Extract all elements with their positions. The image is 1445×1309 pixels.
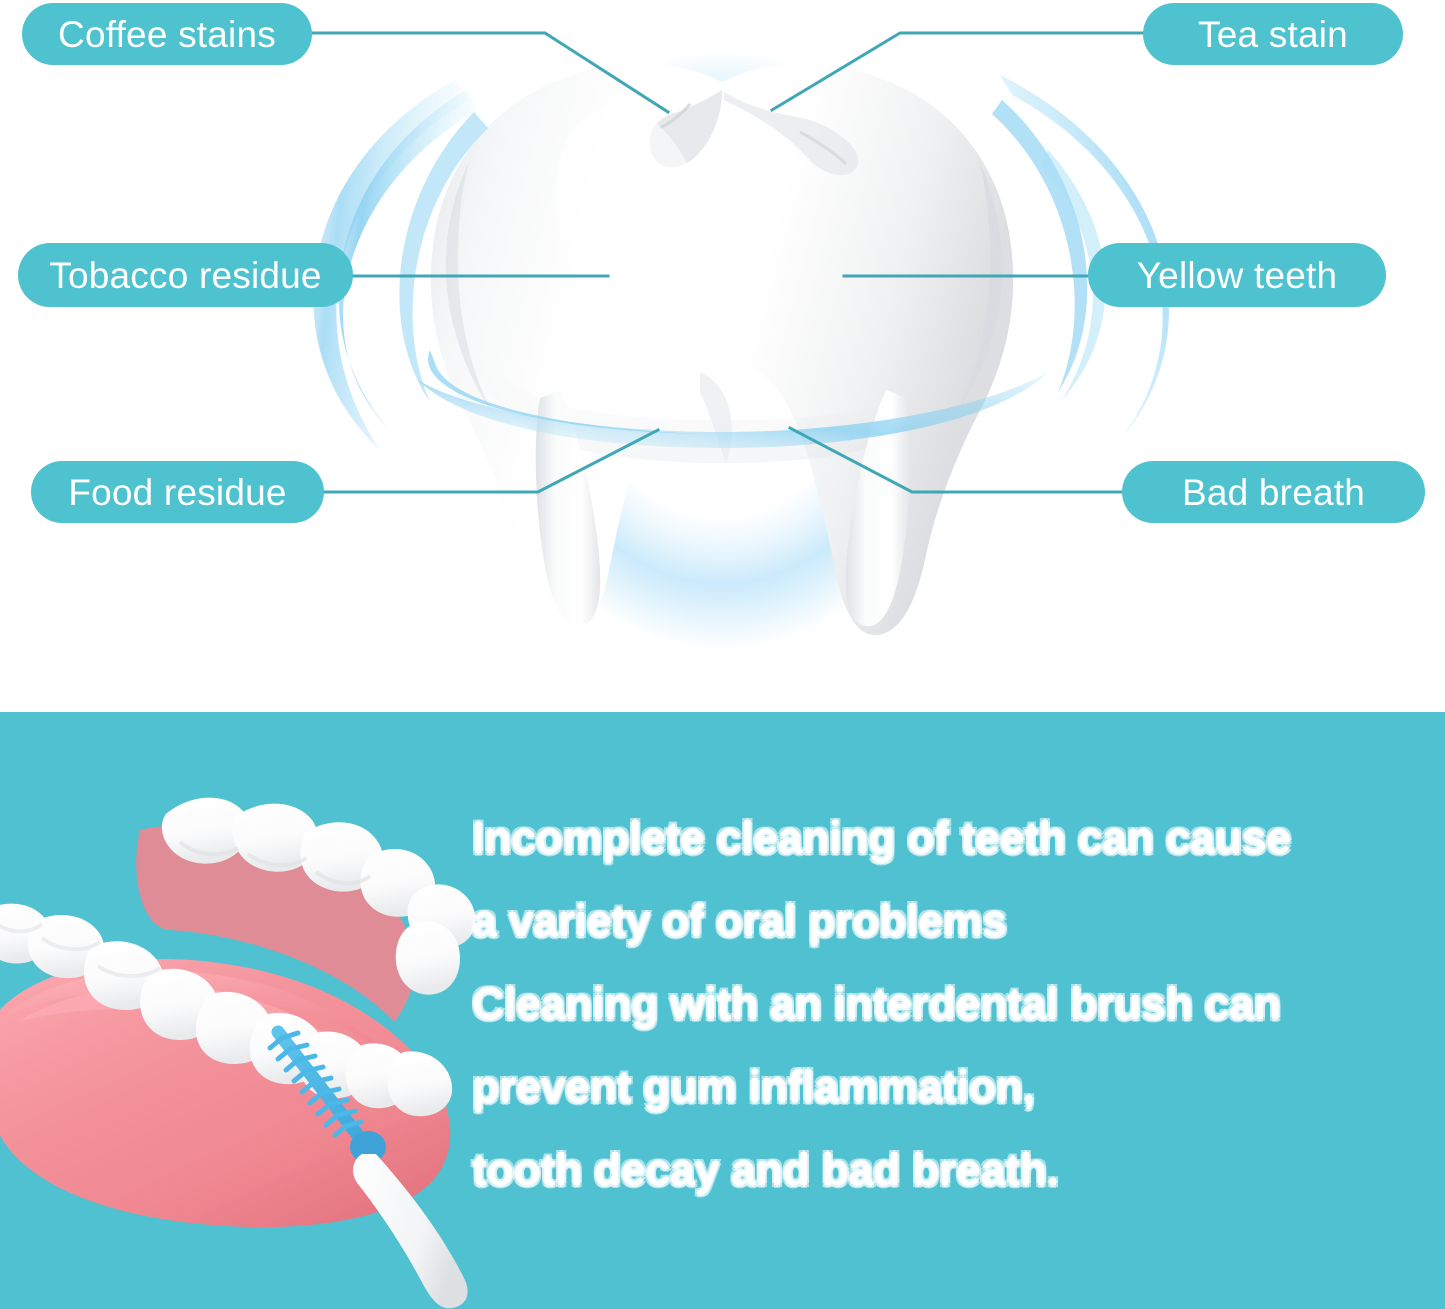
label-tobacco-residue[interactable]: Tobacco residue [18,243,353,307]
infographic-page: Coffee stains Tea stain Tobacco residue … [0,0,1445,1309]
label-bad-breath[interactable]: Bad breath [1122,461,1425,523]
message-line-5: tooth decay and bad breath. [472,1147,1432,1192]
label-coffee-stains[interactable]: Coffee stains [22,3,312,65]
dentures-illustration [0,722,490,1309]
tooth-illustration [0,0,1445,712]
banner-message: Incomplete cleaning of teeth can cause a… [472,815,1432,1230]
label-yellow-teeth[interactable]: Yellow teeth [1088,243,1386,307]
tooth-diagram-panel: Coffee stains Tea stain Tobacco residue … [0,0,1445,712]
message-line-1: Incomplete cleaning of teeth can cause [472,815,1432,860]
label-tea-stain[interactable]: Tea stain [1143,3,1403,65]
message-line-4: prevent gum inflammation, [472,1064,1432,1109]
message-line-2: a variety of oral problems [472,898,1432,943]
label-food-residue[interactable]: Food residue [31,461,324,523]
banner-panel: Incomplete cleaning of teeth can cause a… [0,712,1445,1309]
upper-canine [396,921,460,994]
message-line-3: Cleaning with an interdental brush can [472,981,1432,1026]
